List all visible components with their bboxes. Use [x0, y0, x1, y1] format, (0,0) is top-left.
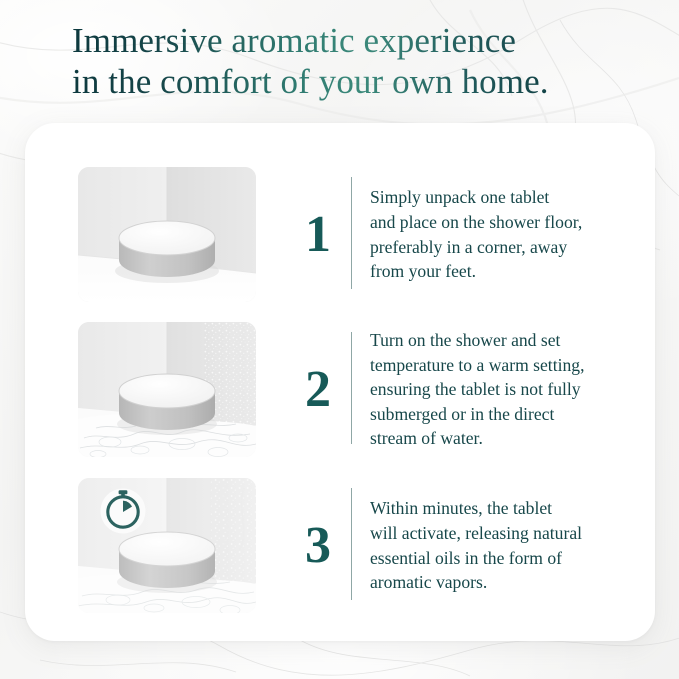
step-1-line-1: Simply unpack one tablet — [370, 185, 648, 210]
step-row-2: 2 Turn on the shower and set temperature… — [78, 322, 648, 457]
step-2-line-2: temperature to a warm setting, — [370, 353, 648, 378]
page-title: Immersive aromatic experience in the com… — [72, 20, 632, 102]
step-2-line-3: ensuring the tablet is not fully — [370, 377, 648, 402]
step-3-line-3: essential oils in the form of — [370, 546, 648, 571]
step-row-1: 1 Simply unpack one tablet and place on … — [78, 167, 648, 302]
step-1-line-2: and place on the shower floor, — [370, 210, 648, 235]
step-1-number: 1 — [296, 167, 340, 302]
step-1-line-3: preferably in a corner, away — [370, 235, 648, 260]
tablet-with-running-water-illustration — [78, 322, 256, 457]
step-2-text: Turn on the shower and set temperature t… — [370, 322, 648, 457]
headline-line-1: Immersive aromatic experience — [72, 20, 632, 61]
tablet-activating-illustration — [78, 478, 256, 613]
headline-line-2: in the comfort of your own home. — [72, 61, 632, 102]
step-2-line-5: stream of water. — [370, 426, 648, 451]
step-3-line-4: aromatic vapors. — [370, 570, 648, 595]
step-3-divider — [351, 488, 352, 600]
step-2-image — [78, 322, 256, 457]
step-2-line-1: Turn on the shower and set — [370, 328, 648, 353]
step-3-text: Within minutes, the tablet will activate… — [370, 478, 648, 613]
step-3-number: 3 — [296, 478, 340, 613]
stopwatch-icon — [101, 489, 146, 534]
step-2-number: 2 — [296, 322, 340, 457]
step-3-image — [78, 478, 256, 613]
step-2-divider — [351, 332, 352, 444]
tablet-in-shower-corner-illustration — [78, 167, 256, 302]
steps-card: 1 Simply unpack one tablet and place on … — [25, 123, 655, 641]
step-3-line-1: Within minutes, the tablet — [370, 496, 648, 521]
step-row-3: 3 Within minutes, the tablet will activa… — [78, 478, 648, 613]
step-1-image — [78, 167, 256, 302]
step-3-line-2: will activate, releasing natural — [370, 521, 648, 546]
step-2-line-4: submerged or in the direct — [370, 402, 648, 427]
step-1-line-4: from your feet. — [370, 259, 648, 284]
step-1-divider — [351, 177, 352, 289]
step-1-text: Simply unpack one tablet and place on th… — [370, 167, 648, 302]
